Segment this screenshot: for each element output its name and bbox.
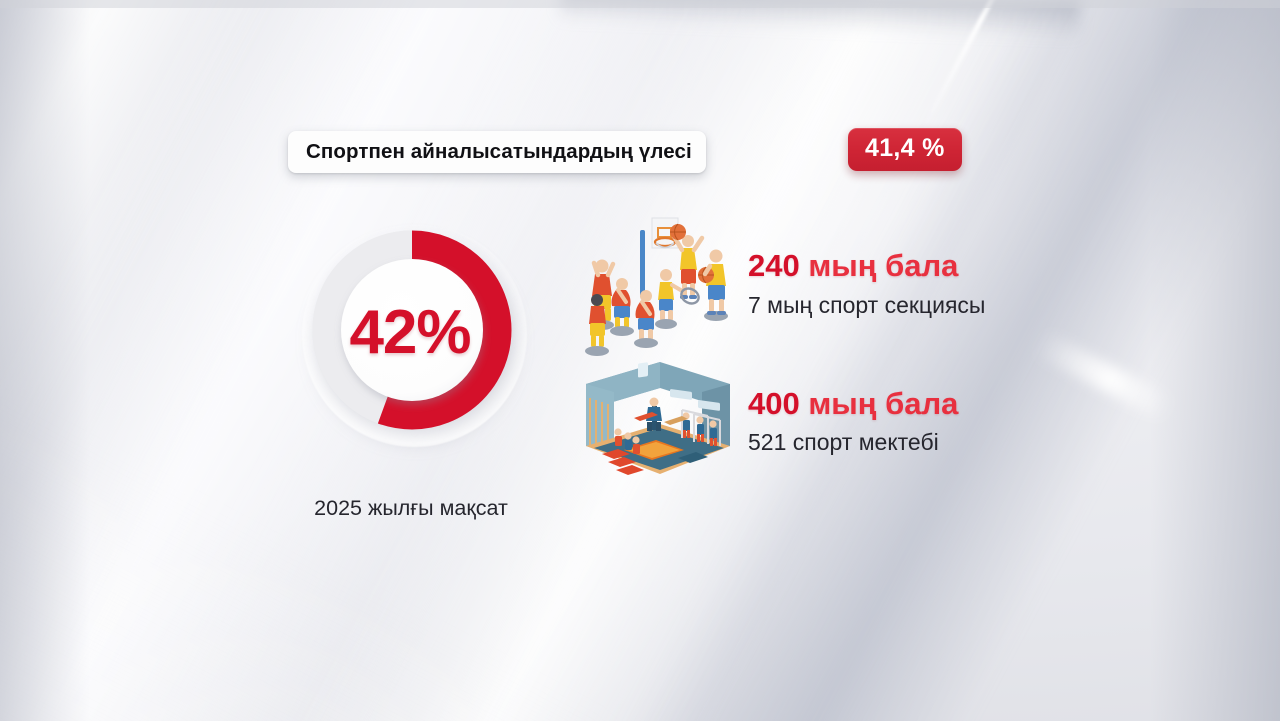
badge-value: 41,4 %	[865, 134, 945, 162]
stat-subtext: 521 спорт мектебі	[748, 429, 958, 456]
donut-chart: 42%	[302, 222, 527, 452]
background-edge-shade	[1150, 0, 1280, 721]
kids-sports-icon	[578, 212, 738, 357]
stat-row: 240 мың бала 7 мың спорт секциясы	[578, 212, 985, 357]
stat-text: 240 мың бала 7 мың спорт секциясы	[748, 250, 985, 319]
stat-headline: 240 мың бала	[748, 250, 985, 283]
background-edge-shade	[0, 0, 90, 721]
sports-hall-icon	[578, 362, 738, 482]
stat-number: 240	[748, 248, 800, 283]
donut-center: 42%	[312, 230, 512, 430]
title-bar: Спортпен айналысатындардың үлесі	[288, 131, 706, 173]
infographic-stage: Спортпен айналысатындардың үлесі 41,4 %	[0, 0, 1280, 721]
stat-text: 400 мың бала 521 спорт мектебі	[748, 388, 958, 457]
stat-subtext: 7 мың спорт секциясы	[748, 292, 985, 319]
stat-row: 400 мың бала 521 спорт мектебі	[578, 362, 958, 482]
page-title: Спортпен айналысатындардың үлесі	[306, 140, 692, 164]
stat-unit: мың бала	[808, 248, 958, 283]
background-edge-shade	[0, 0, 1280, 8]
stat-number: 400	[748, 386, 800, 421]
donut-percent-label: 42%	[349, 297, 470, 368]
donut-caption: 2025 жылғы мақсат	[266, 496, 556, 521]
status-badge: 41,4 %	[848, 128, 962, 171]
stat-unit: мың бала	[808, 386, 958, 421]
stat-headline: 400 мың бала	[748, 388, 958, 421]
